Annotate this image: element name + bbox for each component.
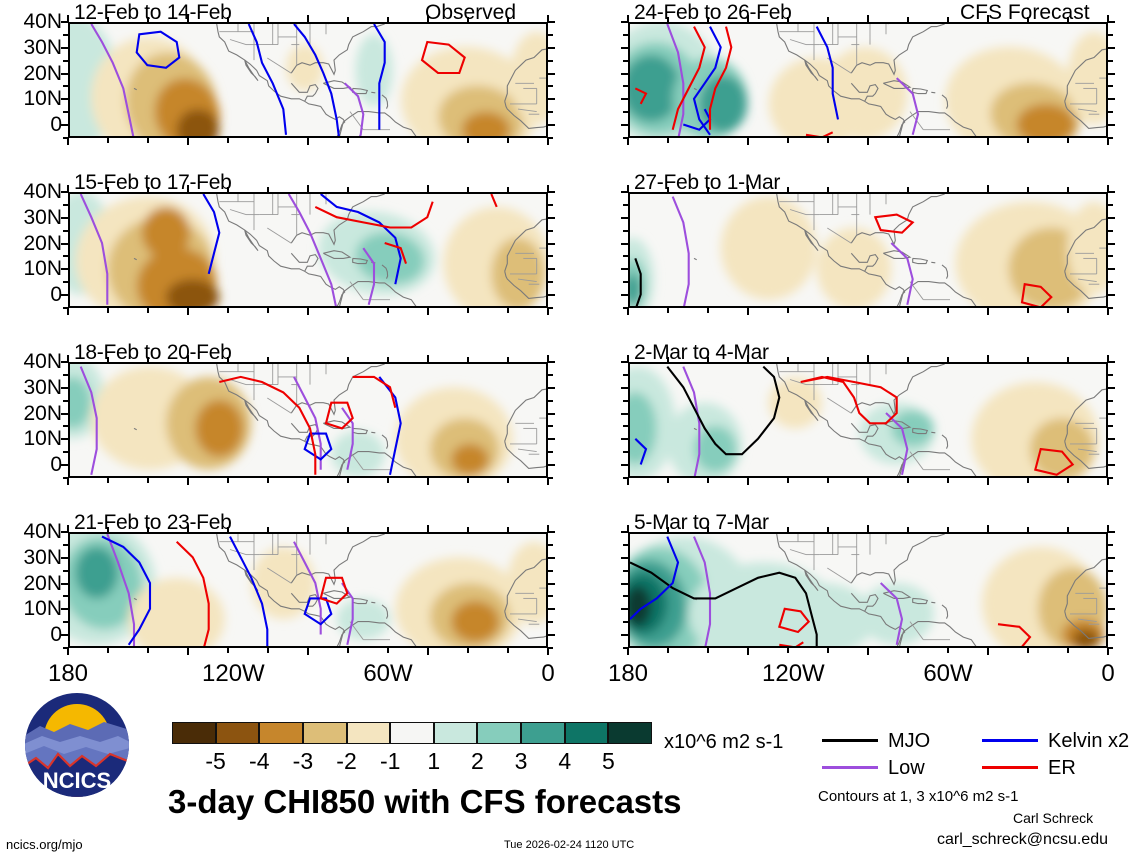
- legend-line-swatch: [822, 766, 878, 769]
- timestamp: Tue 2026-02-24 1120 UTC: [504, 839, 634, 851]
- axis-tick: [621, 361, 628, 363]
- axis-tick: [63, 425, 68, 427]
- axis-tick: [627, 478, 629, 485]
- axis-tick: [107, 187, 109, 192]
- axis-tick: [1108, 281, 1113, 283]
- axis-tick: [507, 308, 509, 313]
- y-axis-label: 0: [2, 283, 62, 307]
- axis-tick: [667, 527, 669, 532]
- colorbar-swatch: [303, 722, 347, 744]
- axis-tick: [907, 138, 909, 143]
- axis-tick: [548, 438, 555, 440]
- axis-tick: [63, 34, 68, 36]
- axis-tick: [747, 138, 749, 145]
- y-axis-label: 10N: [2, 597, 62, 621]
- x-axis-label: 180: [42, 660, 94, 688]
- axis-tick: [548, 98, 555, 100]
- axis-tick: [1108, 111, 1113, 113]
- axis-tick: [548, 34, 553, 36]
- axis-tick: [1067, 138, 1069, 143]
- colorbar-tick-label: 3: [501, 748, 541, 775]
- axis-tick: [1108, 137, 1113, 139]
- column-header: Observed: [425, 1, 516, 25]
- axis-tick: [227, 17, 229, 22]
- axis-tick: [347, 17, 349, 22]
- axis-tick: [548, 111, 553, 113]
- axis-tick: [867, 525, 869, 532]
- axis-tick: [827, 357, 829, 362]
- map-panel: [68, 532, 548, 648]
- axis-tick: [547, 308, 549, 315]
- y-axis-label: 40N: [2, 520, 62, 544]
- axis-tick: [667, 357, 669, 362]
- axis-tick: [947, 357, 949, 362]
- axis-tick: [623, 204, 628, 206]
- axis-tick: [827, 17, 829, 22]
- axis-tick: [548, 374, 553, 376]
- axis-tick: [548, 621, 553, 623]
- axis-tick: [548, 255, 553, 257]
- colorbar-tick-label: 1: [414, 748, 454, 775]
- axis-tick: [63, 255, 68, 257]
- axis-tick: [1108, 60, 1113, 62]
- axis-tick: [787, 648, 789, 653]
- colorbar-tick-label: -2: [327, 748, 367, 775]
- axis-tick: [61, 243, 68, 245]
- axis-tick: [61, 191, 68, 193]
- axis-tick: [1108, 531, 1115, 533]
- axis-tick: [548, 387, 555, 389]
- map-field: [70, 24, 548, 138]
- axis-tick: [467, 478, 469, 483]
- axis-tick: [187, 355, 189, 362]
- axis-tick: [507, 187, 509, 192]
- axis-tick: [1108, 124, 1115, 126]
- axis-tick: [63, 477, 68, 479]
- axis-tick: [1108, 217, 1115, 219]
- axis-tick: [427, 355, 429, 362]
- axis-tick: [61, 387, 68, 389]
- axis-tick: [548, 268, 555, 270]
- axis-tick: [1027, 138, 1029, 143]
- legend-line-swatch: [822, 739, 878, 742]
- axis-tick: [67, 138, 69, 145]
- x-axis-label: 120W: [202, 660, 254, 688]
- axis-tick: [61, 413, 68, 415]
- contour-level-note: Contours at 1, 3 x10^6 m2 s-1: [818, 788, 1018, 805]
- axis-tick: [63, 230, 68, 232]
- site-link[interactable]: ncics.org/mjo: [6, 837, 83, 852]
- axis-tick: [548, 307, 553, 309]
- axis-tick: [107, 17, 109, 22]
- axis-tick: [347, 648, 349, 653]
- map-panel: [628, 362, 1108, 478]
- colorbar-swatch: [434, 722, 478, 744]
- axis-tick: [467, 138, 469, 143]
- axis-tick: [707, 17, 709, 22]
- axis-tick: [548, 294, 555, 296]
- axis-tick: [63, 570, 68, 572]
- axis-tick: [227, 138, 229, 143]
- axis-tick: [747, 478, 749, 485]
- axis-tick: [387, 478, 389, 483]
- axis-tick: [1067, 648, 1069, 653]
- axis-tick: [707, 648, 709, 653]
- axis-tick: [1027, 187, 1029, 192]
- axis-tick: [621, 98, 628, 100]
- colorbar-tick-label: 4: [545, 748, 585, 775]
- axis-tick: [147, 138, 149, 143]
- axis-tick: [1108, 73, 1115, 75]
- axis-tick: [867, 355, 869, 362]
- axis-tick: [548, 451, 553, 453]
- axis-tick: [947, 138, 949, 143]
- axis-tick: [623, 425, 628, 427]
- axis-tick: [63, 400, 68, 402]
- y-axis-label: 20N: [2, 62, 62, 86]
- axis-tick: [947, 527, 949, 532]
- axis-tick: [667, 478, 669, 483]
- legend-label: Low: [888, 757, 925, 780]
- axis-tick: [907, 17, 909, 22]
- axis-tick: [548, 570, 553, 572]
- axis-tick: [548, 413, 555, 415]
- axis-tick: [307, 648, 309, 655]
- axis-tick: [1108, 621, 1113, 623]
- axis-tick: [867, 138, 869, 145]
- axis-tick: [1067, 527, 1069, 532]
- axis-tick: [187, 15, 189, 22]
- legend-line-swatch: [982, 739, 1038, 742]
- axis-tick: [427, 478, 429, 485]
- axis-tick: [387, 527, 389, 532]
- axis-tick: [63, 85, 68, 87]
- map-panel: [628, 22, 1108, 138]
- axis-tick: [707, 527, 709, 532]
- axis-tick: [61, 438, 68, 440]
- axis-tick: [667, 187, 669, 192]
- axis-tick: [267, 138, 269, 143]
- axis-tick: [623, 451, 628, 453]
- axis-tick: [227, 187, 229, 192]
- axis-tick: [547, 478, 549, 485]
- axis-tick: [1108, 387, 1115, 389]
- axis-tick: [621, 413, 628, 415]
- axis-tick: [107, 138, 109, 143]
- y-axis-label: 20N: [2, 232, 62, 256]
- axis-tick: [621, 583, 628, 585]
- axis-tick: [827, 648, 829, 653]
- colorbar-tick-label: 5: [588, 748, 628, 775]
- axis-tick: [548, 464, 555, 466]
- y-axis-label: 0: [2, 113, 62, 137]
- axis-tick: [1067, 357, 1069, 362]
- axis-tick: [1108, 191, 1115, 193]
- map-panel: [68, 362, 548, 478]
- map-field: [70, 534, 548, 648]
- axis-tick: [227, 308, 229, 313]
- axis-tick: [1108, 608, 1115, 610]
- axis-tick: [907, 478, 909, 483]
- axis-tick: [507, 357, 509, 362]
- axis-tick: [467, 527, 469, 532]
- axis-tick: [387, 308, 389, 313]
- axis-tick: [707, 187, 709, 192]
- axis-tick: [1108, 243, 1115, 245]
- axis-tick: [707, 357, 709, 362]
- y-axis-label: 40N: [2, 350, 62, 374]
- axis-tick: [907, 357, 909, 362]
- y-axis-label: 30N: [2, 36, 62, 60]
- axis-tick: [107, 357, 109, 362]
- axis-tick: [623, 570, 628, 572]
- axis-tick: [548, 634, 555, 636]
- axis-tick: [187, 138, 189, 145]
- axis-tick: [547, 138, 549, 145]
- axis-tick: [347, 478, 349, 483]
- axis-tick: [147, 527, 149, 532]
- axis-tick: [827, 187, 829, 192]
- axis-tick: [347, 357, 349, 362]
- axis-tick: [1108, 98, 1115, 100]
- axis-tick: [1108, 307, 1113, 309]
- axis-tick: [63, 621, 68, 623]
- axis-tick: [548, 583, 555, 585]
- y-axis-label: 40N: [2, 10, 62, 34]
- axis-tick: [548, 400, 553, 402]
- axis-tick: [548, 647, 553, 649]
- x-axis-label: 120W: [762, 660, 814, 688]
- axis-tick: [548, 124, 555, 126]
- axis-tick: [63, 647, 68, 649]
- axis-tick: [1108, 570, 1113, 572]
- axis-tick: [227, 357, 229, 362]
- y-axis-label: 30N: [2, 376, 62, 400]
- axis-tick: [227, 527, 229, 532]
- axis-tick: [63, 60, 68, 62]
- axis-tick: [427, 138, 429, 145]
- map-panel: [628, 192, 1108, 308]
- axis-tick: [61, 73, 68, 75]
- axis-tick: [707, 478, 709, 483]
- map-panel: [628, 532, 1108, 648]
- axis-tick: [747, 648, 749, 655]
- axis-tick: [1027, 648, 1029, 653]
- axis-tick: [548, 361, 555, 363]
- axis-tick: [1108, 413, 1115, 415]
- y-axis-label: 0: [2, 453, 62, 477]
- colorbar-tick-label: -4: [239, 748, 279, 775]
- axis-tick: [627, 138, 629, 145]
- axis-tick: [67, 478, 69, 485]
- y-axis-label: 0: [2, 623, 62, 647]
- credit-email[interactable]: carl_schreck@ncsu.edu: [937, 831, 1108, 849]
- axis-tick: [787, 527, 789, 532]
- axis-tick: [623, 374, 628, 376]
- axis-tick: [467, 357, 469, 362]
- axis-tick: [307, 138, 309, 145]
- axis-tick: [387, 187, 389, 192]
- axis-tick: [621, 243, 628, 245]
- axis-tick: [548, 230, 553, 232]
- axis-tick: [1107, 648, 1109, 655]
- axis-tick: [787, 478, 789, 483]
- axis-tick: [1108, 204, 1113, 206]
- axis-tick: [987, 355, 989, 362]
- axis-tick: [1027, 308, 1029, 313]
- axis-tick: [1108, 595, 1113, 597]
- axis-tick: [1108, 230, 1113, 232]
- axis-tick: [1108, 451, 1113, 453]
- axis-tick: [623, 60, 628, 62]
- axis-tick: [747, 525, 749, 532]
- axis-tick: [548, 281, 553, 283]
- axis-tick: [547, 648, 549, 655]
- axis-tick: [623, 230, 628, 232]
- axis-tick: [707, 138, 709, 143]
- axis-tick: [548, 608, 555, 610]
- axis-tick: [61, 124, 68, 126]
- legend-label: MJO: [888, 730, 930, 753]
- axis-tick: [61, 634, 68, 636]
- axis-tick: [387, 138, 389, 143]
- axis-tick: [1027, 478, 1029, 483]
- axis-tick: [1108, 400, 1113, 402]
- axis-tick: [867, 478, 869, 485]
- colorbar-swatch: [565, 722, 609, 744]
- colorbar: [172, 722, 652, 744]
- axis-tick: [907, 527, 909, 532]
- axis-tick: [627, 648, 629, 655]
- axis-tick: [1107, 138, 1109, 145]
- axis-tick: [387, 648, 389, 653]
- colorbar-tick-label: -5: [196, 748, 236, 775]
- y-axis-label: 10N: [2, 87, 62, 111]
- axis-tick: [987, 308, 989, 315]
- axis-tick: [63, 137, 68, 139]
- axis-tick: [827, 527, 829, 532]
- axis-tick: [1108, 438, 1115, 440]
- axis-tick: [787, 357, 789, 362]
- axis-tick: [67, 308, 69, 315]
- axis-tick: [63, 544, 68, 546]
- y-axis-label: 10N: [2, 427, 62, 451]
- axis-tick: [1108, 361, 1115, 363]
- axis-tick: [667, 648, 669, 653]
- axis-tick: [867, 308, 869, 315]
- axis-tick: [1107, 308, 1109, 315]
- axis-tick: [387, 357, 389, 362]
- axis-tick: [621, 387, 628, 389]
- axis-tick: [63, 307, 68, 309]
- colorbar-swatch: [521, 722, 565, 744]
- axis-tick: [347, 138, 349, 143]
- axis-tick: [61, 464, 68, 466]
- colorbar-tick-label: 2: [457, 748, 497, 775]
- axis-tick: [548, 85, 553, 87]
- axis-tick: [1108, 34, 1113, 36]
- x-axis-label: 0: [1082, 660, 1134, 688]
- axis-tick: [623, 111, 628, 113]
- axis-tick: [107, 478, 109, 483]
- colorbar-swatch: [477, 722, 521, 744]
- colorbar-swatch: [216, 722, 260, 744]
- axis-tick: [621, 608, 628, 610]
- axis-tick: [347, 308, 349, 313]
- colorbar-tick-label: -3: [283, 748, 323, 775]
- axis-tick: [667, 17, 669, 22]
- axis-tick: [623, 595, 628, 597]
- axis-tick: [61, 608, 68, 610]
- y-axis-label: 40N: [2, 180, 62, 204]
- axis-tick: [107, 648, 109, 653]
- y-axis-label: 30N: [2, 546, 62, 570]
- axis-tick: [747, 308, 749, 315]
- axis-tick: [61, 361, 68, 363]
- axis-tick: [548, 21, 555, 23]
- axis-tick: [621, 73, 628, 75]
- axis-tick: [621, 634, 628, 636]
- axis-tick: [1067, 478, 1069, 483]
- axis-tick: [1108, 583, 1115, 585]
- axis-tick: [947, 17, 949, 22]
- ncics-logo-mark: NCICS: [24, 692, 130, 798]
- axis-tick: [61, 21, 68, 23]
- axis-tick: [787, 308, 789, 313]
- axis-tick: [267, 308, 269, 313]
- axis-tick: [61, 557, 68, 559]
- axis-tick: [347, 527, 349, 532]
- axis-tick: [1108, 21, 1115, 23]
- y-axis-label: 10N: [2, 257, 62, 281]
- colorbar-swatch: [390, 722, 434, 744]
- map-field: [70, 364, 548, 478]
- axis-tick: [467, 308, 469, 313]
- map-field: [630, 364, 1108, 478]
- axis-tick: [1108, 47, 1115, 49]
- axis-tick: [621, 531, 628, 533]
- axis-tick: [623, 137, 628, 139]
- axis-tick: [623, 85, 628, 87]
- axis-tick: [947, 648, 949, 653]
- axis-tick: [307, 355, 309, 362]
- axis-tick: [867, 648, 869, 655]
- axis-tick: [63, 374, 68, 376]
- legend-label: ER: [1048, 757, 1076, 780]
- axis-tick: [548, 73, 555, 75]
- axis-tick: [947, 308, 949, 313]
- axis-tick: [621, 438, 628, 440]
- x-axis-label: 60W: [922, 660, 974, 688]
- x-axis-label: 60W: [362, 660, 414, 688]
- axis-tick: [667, 138, 669, 143]
- legend-label: Kelvin x2: [1048, 730, 1129, 753]
- axis-tick: [1108, 464, 1115, 466]
- axis-tick: [147, 478, 149, 483]
- axis-tick: [67, 648, 69, 655]
- axis-tick: [747, 15, 749, 22]
- axis-tick: [548, 531, 555, 533]
- axis-tick: [667, 308, 669, 313]
- axis-tick: [61, 531, 68, 533]
- colorbar-swatch: [259, 722, 303, 744]
- axis-tick: [187, 185, 189, 192]
- axis-tick: [621, 464, 628, 466]
- map-panel: [68, 22, 548, 138]
- axis-tick: [147, 17, 149, 22]
- axis-tick: [1108, 85, 1113, 87]
- axis-tick: [623, 544, 628, 546]
